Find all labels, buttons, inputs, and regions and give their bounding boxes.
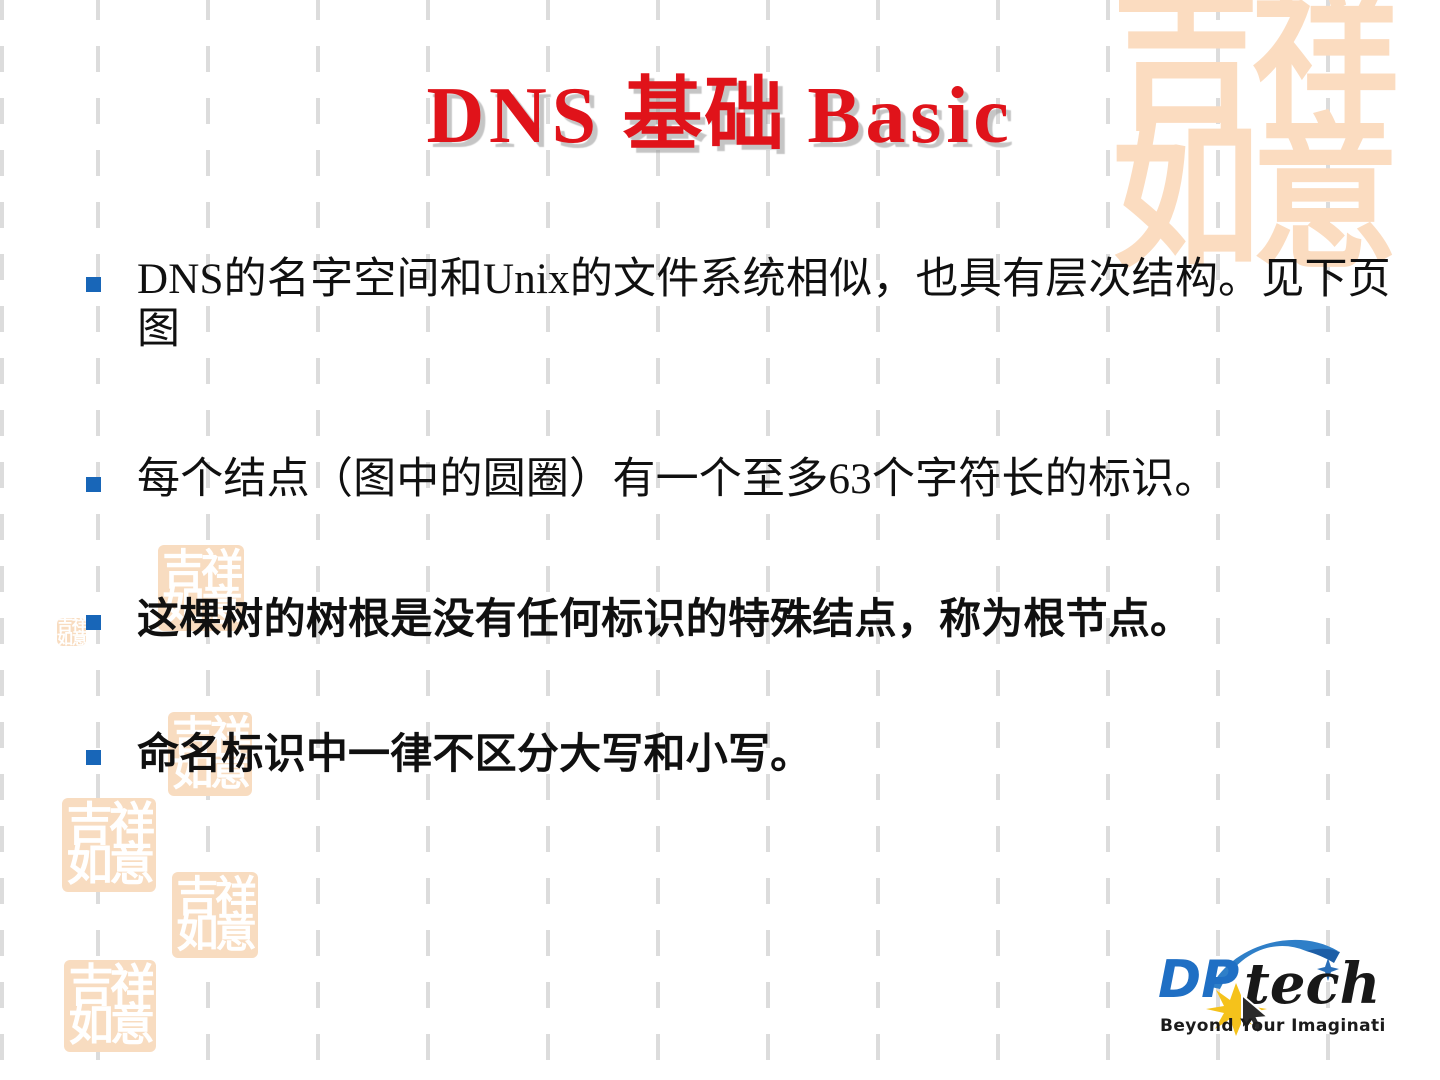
bullet-square-icon: [86, 750, 101, 765]
page-title: DNS 基础 Basic: [0, 76, 1440, 156]
seal-stamp: 吉祥 如意: [62, 798, 156, 892]
grid-line: [1326, 0, 1330, 1080]
list-item-text: 这棵树的树根是没有任何标识的特殊结点，称为根节点。: [137, 595, 1416, 644]
grid-line: [206, 0, 210, 1080]
bullet-square-icon: [86, 277, 101, 292]
bullet-square-icon: [86, 477, 101, 492]
logo-brand-tech: tech: [1244, 951, 1380, 1017]
list-item: DNS的名字空间和Unix的文件系统相似，也具有层次结构。见下页图: [86, 255, 1416, 355]
dptech-logo: DP tech Beyond Your Imagination: [1156, 925, 1386, 1040]
seal-stamp: 吉祥 如意: [57, 618, 86, 646]
list-item: 每个结点（图中的圆圈）有一个至多63个字符长的标识。: [86, 455, 1416, 505]
grid-line: [96, 0, 100, 1080]
list-item: 命名标识中一律不区分大写和小写。: [86, 730, 1416, 779]
bullet-square-icon: [86, 615, 101, 630]
grid-line: [766, 0, 770, 1080]
grid-line: [1216, 0, 1220, 1080]
title-part-dns: DNS: [426, 72, 600, 160]
title-part-cjk: 基础: [623, 72, 786, 160]
list-item-text: DNS的名字空间和Unix的文件系统相似，也具有层次结构。见下页图: [137, 255, 1416, 355]
grid-line: [426, 0, 430, 1080]
list-item-text: 命名标识中一律不区分大写和小写。: [137, 730, 1416, 779]
background-grid: [0, 0, 1440, 1080]
grid-line: [996, 0, 1000, 1080]
dptech-logo-graphic: DP tech Beyond Your Imagination: [1156, 925, 1386, 1040]
grid-line: [0, 0, 4, 1080]
seal-stamp: 吉祥 如意: [172, 872, 258, 958]
title-part-basic: Basic: [807, 72, 1013, 160]
grid-line: [1106, 0, 1110, 1080]
logo-tagline: Beyond Your Imagination: [1160, 1016, 1386, 1036]
list-item: 这棵树的树根是没有任何标识的特殊结点，称为根节点。: [86, 595, 1416, 644]
list-item-text: 每个结点（图中的圆圈）有一个至多63个字符长的标识。: [137, 455, 1416, 505]
grid-line: [876, 0, 880, 1080]
logo-brand-dp: DP: [1158, 950, 1239, 1010]
grid-line: [546, 0, 550, 1080]
seal-watermarks: 吉祥 如意 吉祥 如意 吉祥 如意 吉祥 如意 吉祥 如意 吉祥 如意 吉祥 如…: [0, 0, 1440, 1080]
grid-line: [656, 0, 660, 1080]
seal-stamp: 吉祥 如意: [64, 960, 156, 1052]
slide-canvas: 吉祥 如意 吉祥 如意 吉祥 如意 吉祥 如意 吉祥 如意 吉祥 如意 吉祥 如…: [0, 0, 1440, 1080]
grid-line: [316, 0, 320, 1080]
